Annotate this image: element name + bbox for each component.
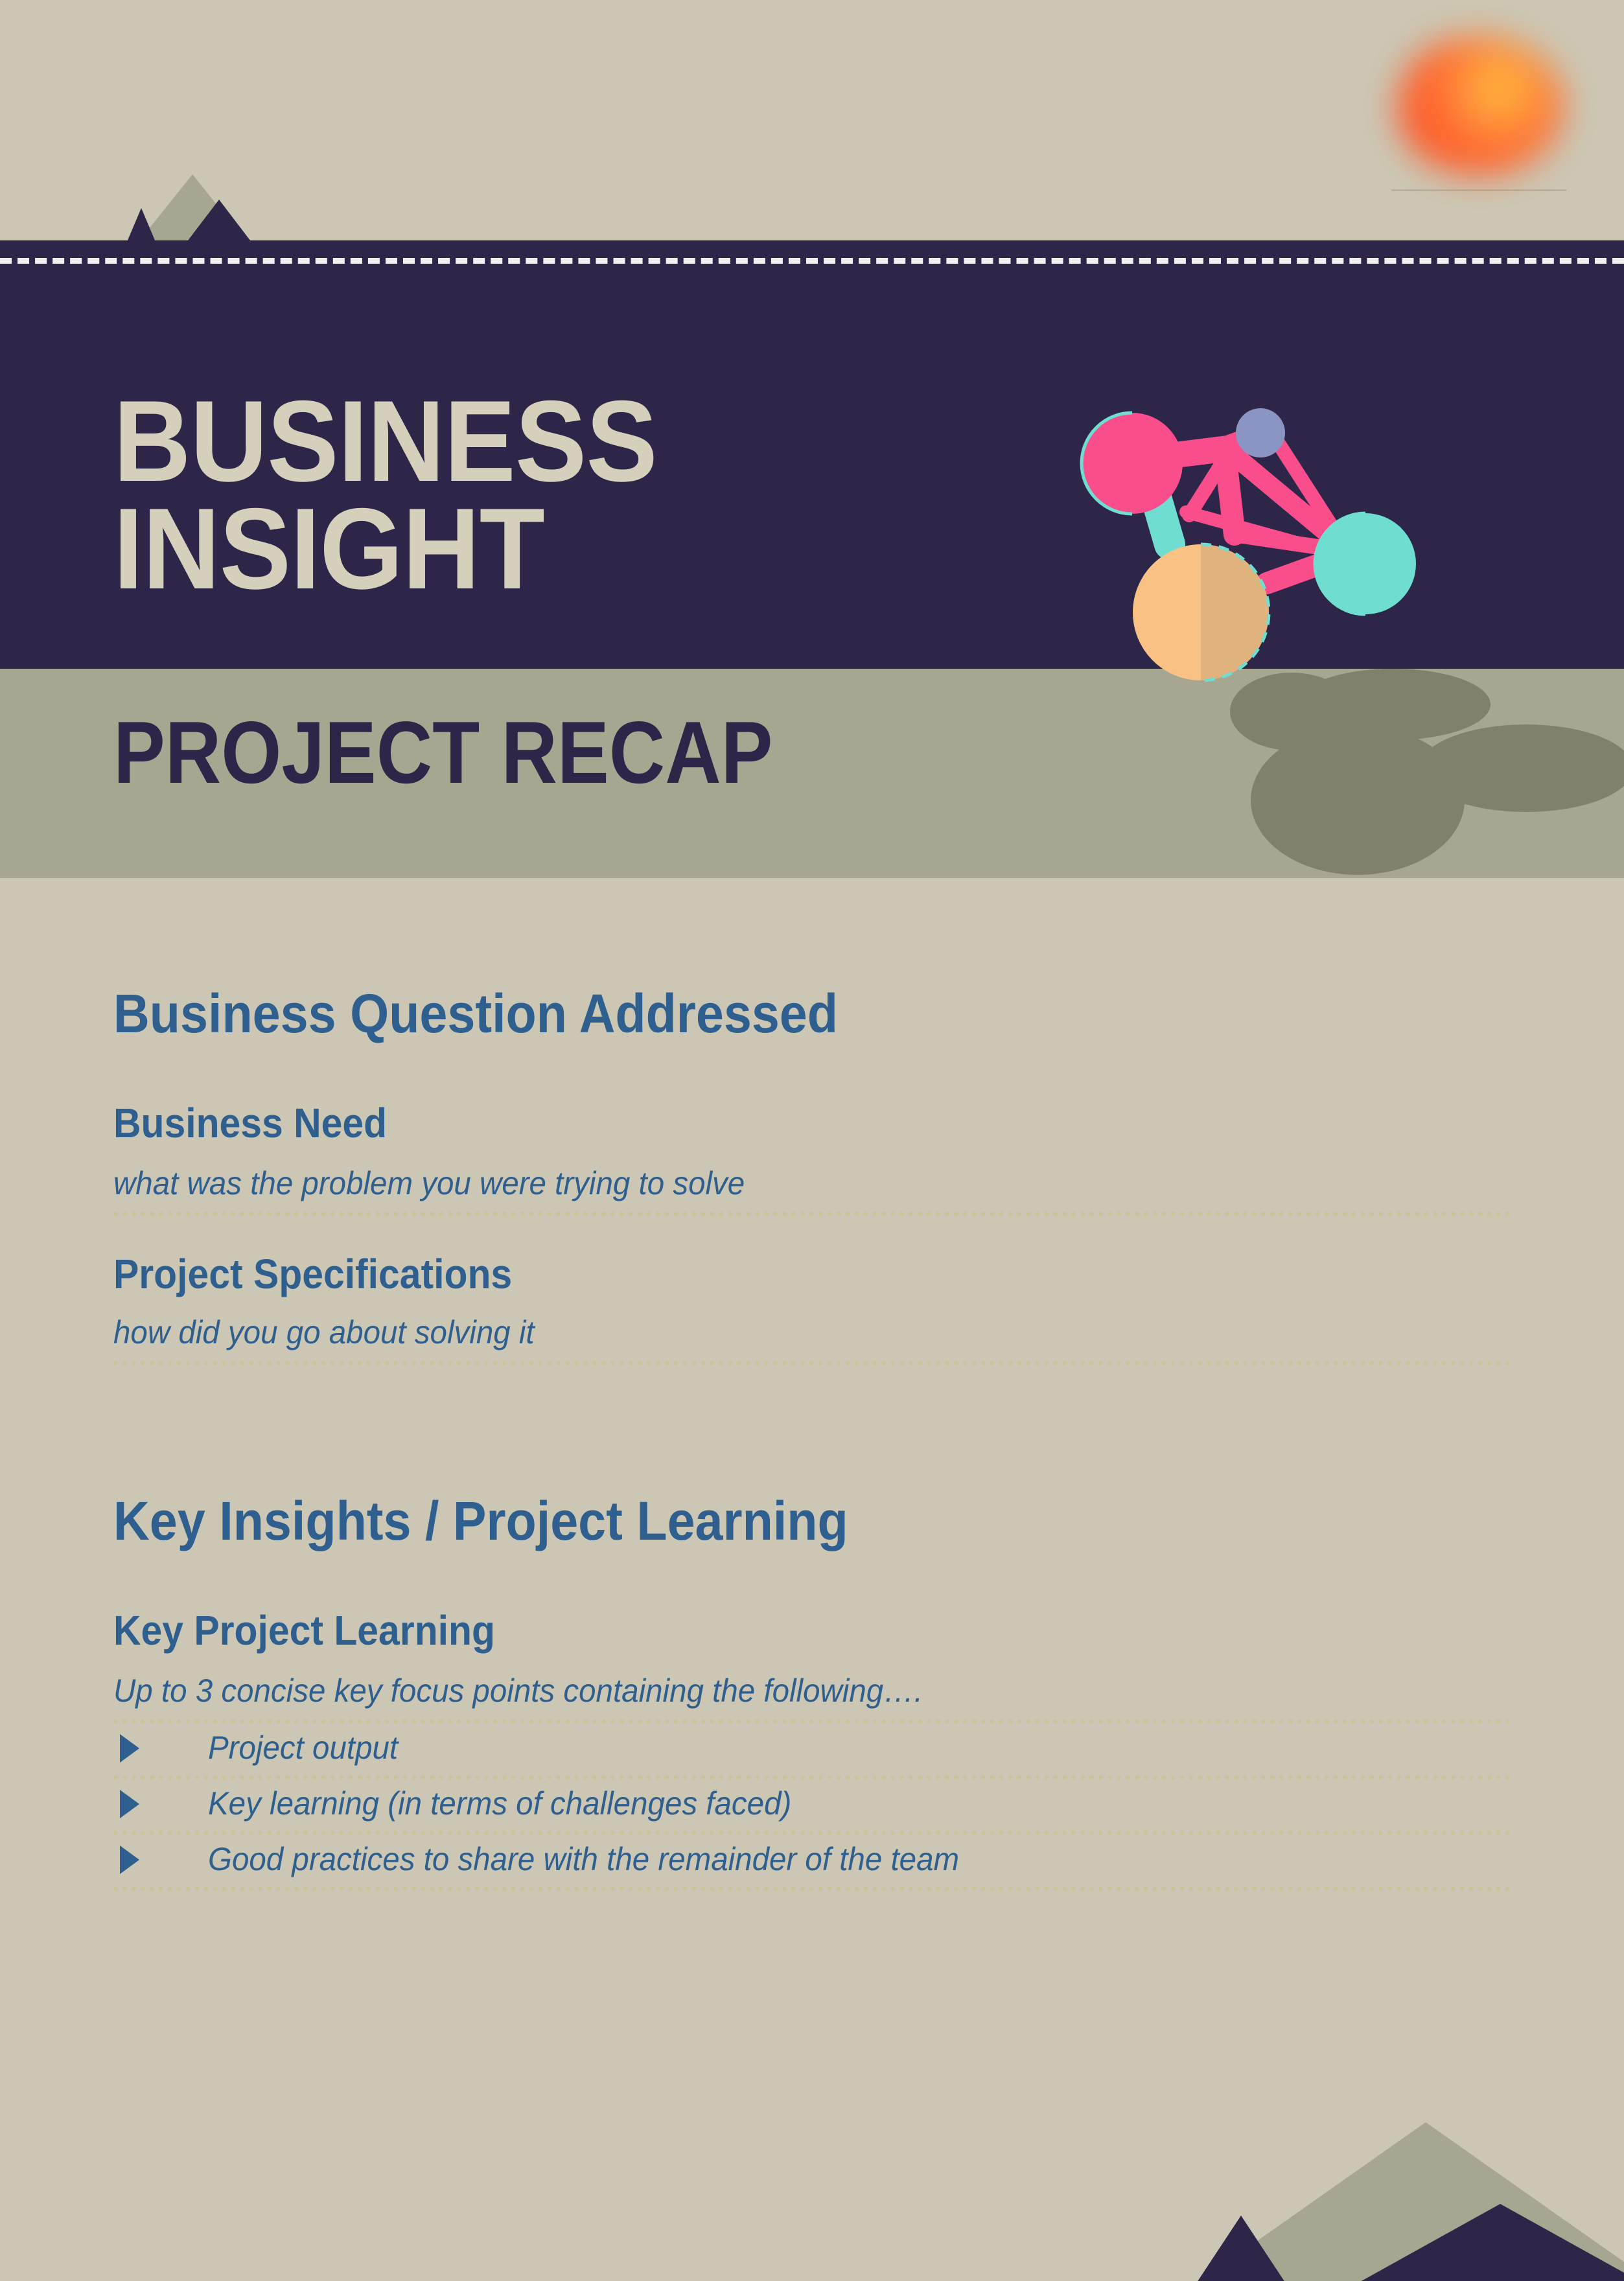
subsection-heading-project-specifications: Project Specifications (113, 1253, 1503, 1296)
field-business-need-text: what was the problem you were trying to … (113, 1164, 745, 1203)
page-title-line2: INSIGHT (113, 484, 544, 613)
subsection-heading-key-project-learning: Key Project Learning (113, 1609, 1503, 1652)
section-heading: Key Insights / Project Learning (113, 1492, 1503, 1549)
subsection-heading-business-need: Business Need (113, 1102, 1503, 1145)
graphic-shadow-tail (1419, 724, 1624, 812)
field-project-specifications-text: how did you go about solving it (113, 1314, 535, 1352)
logo-underline-rule (1391, 189, 1566, 191)
page-title: BUSINESSINSIGHT (113, 388, 657, 602)
field-key-learning-intro[interactable]: Up to 3 concise key focus points contain… (113, 1672, 1511, 1724)
field-key-learning-intro-text: Up to 3 concise key focus points contain… (113, 1672, 923, 1710)
list-item[interactable]: Project output (113, 1724, 1511, 1779)
bottom-mountain-dark-large (1354, 2202, 1624, 2281)
triangle-bullet-icon (120, 1790, 139, 1818)
bottom-mountain-dark-small (1196, 2214, 1286, 2281)
triangle-bullet-icon (120, 1846, 139, 1874)
section-key-insights: Key Insights / Project Learning Key Proj… (0, 1492, 1624, 1891)
triangle-bullet-icon (120, 1734, 139, 1763)
list-item-label: Good practices to share with the remaind… (208, 1842, 959, 1877)
section-heading: Business Question Addressed (113, 985, 1503, 1042)
list-item-label: Project output (208, 1730, 398, 1766)
section-business-question: Business Question Addressed Business Nee… (0, 985, 1624, 1365)
header-dashed-divider (0, 258, 1624, 264)
list-item-label: Key learning (in terms of challenges fac… (208, 1786, 791, 1822)
field-business-need[interactable]: what was the problem you were trying to … (113, 1164, 1511, 1216)
page-subtitle: PROJECT RECAP (113, 708, 772, 796)
poster-page: BUSINESSINSIGHT PROJECT RECAP (0, 0, 1624, 2281)
poster-content: Business Question Addressed Business Nee… (0, 985, 1624, 1891)
field-project-specifications[interactable]: how did you go about solving it (113, 1314, 1511, 1365)
network-nodes-graphic (1073, 389, 1422, 687)
list-item[interactable]: Good practices to share with the remaind… (113, 1835, 1511, 1891)
list-item[interactable]: Key learning (in terms of challenges fac… (113, 1779, 1511, 1835)
brand-logo-blob (1395, 36, 1564, 175)
